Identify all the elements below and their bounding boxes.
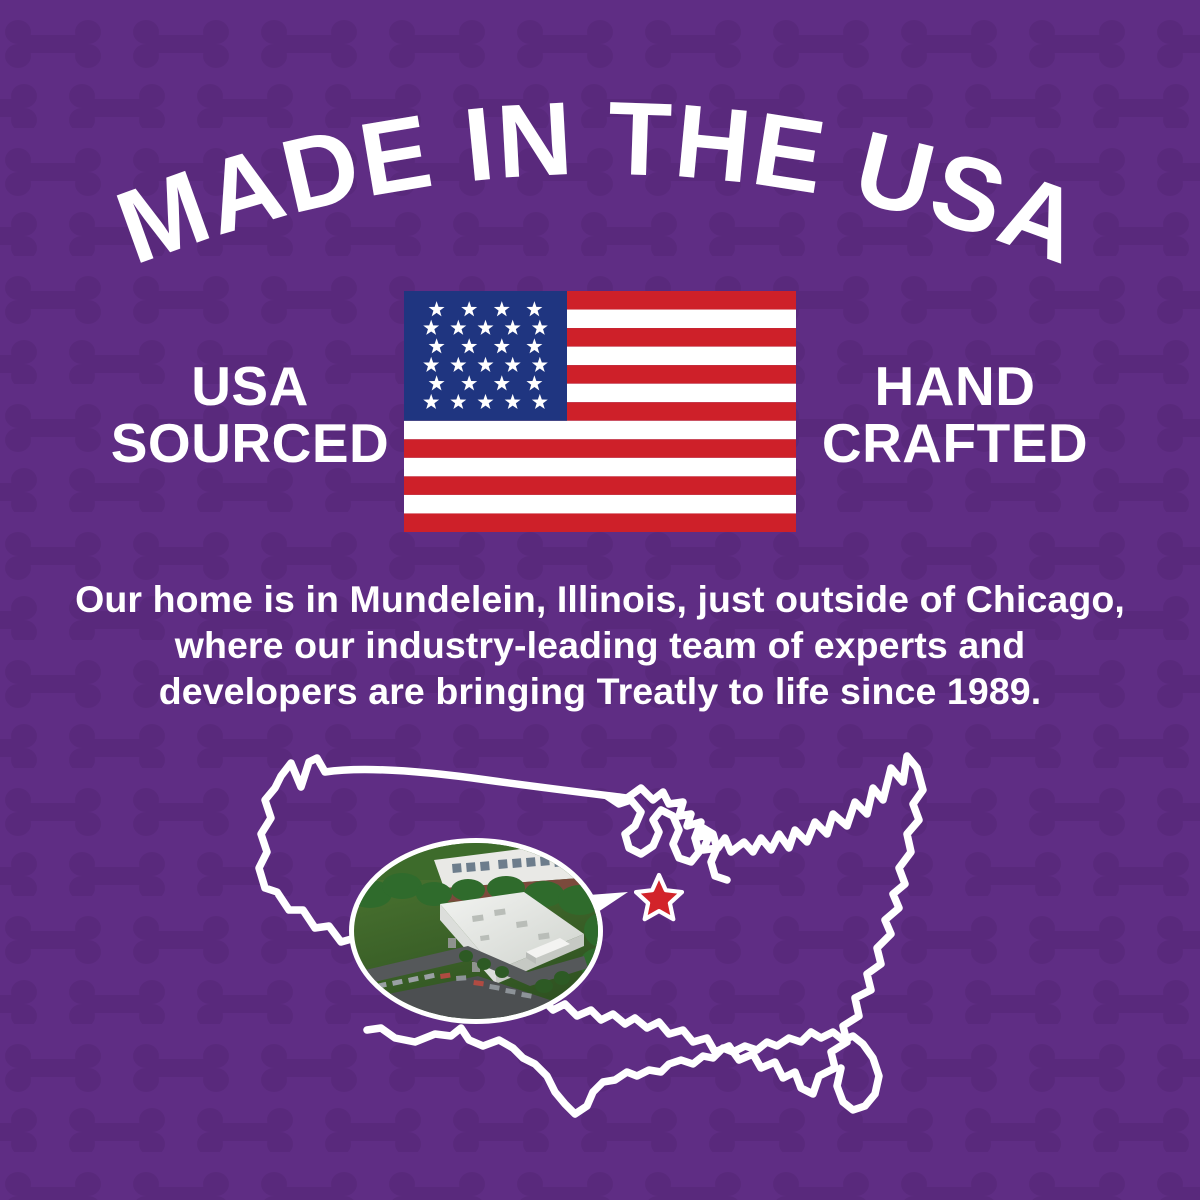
page-title: MADE IN THE USA xyxy=(0,96,1200,306)
badge-usa-sourced: USA SOURCED xyxy=(110,358,390,471)
star-shape xyxy=(636,875,682,919)
svg-text:MADE IN THE USA: MADE IN THE USA xyxy=(103,81,1097,287)
badge-usa-sourced-line2: SOURCED xyxy=(110,415,390,472)
usa-flag-icon xyxy=(404,291,796,532)
red-star-marker xyxy=(634,872,684,922)
badge-hand-crafted: HAND CRAFTED xyxy=(810,358,1100,471)
location-blurb-line-2: where our industry-leading team of exper… xyxy=(58,622,1142,668)
badge-hand-crafted-line1: HAND xyxy=(875,355,1036,417)
badge-hand-crafted-line2: CRAFTED xyxy=(810,415,1100,472)
location-blurb-line-3: developers are bringing Treatly to life … xyxy=(58,668,1142,714)
location-blurb-line-1: Our home is in Mundelein, Illinois, just… xyxy=(58,576,1142,622)
location-blurb: Our home is in Mundelein, Illinois, just… xyxy=(58,576,1142,714)
badge-usa-sourced-line1: USA xyxy=(191,355,309,417)
map-gulf-coast-path xyxy=(367,1028,879,1114)
made-in-usa-graphic: MADE IN THE USA USA SOURCED xyxy=(0,0,1200,1200)
facility-aerial-photo xyxy=(348,838,620,1024)
page-title-text: MADE IN THE USA xyxy=(103,81,1097,287)
